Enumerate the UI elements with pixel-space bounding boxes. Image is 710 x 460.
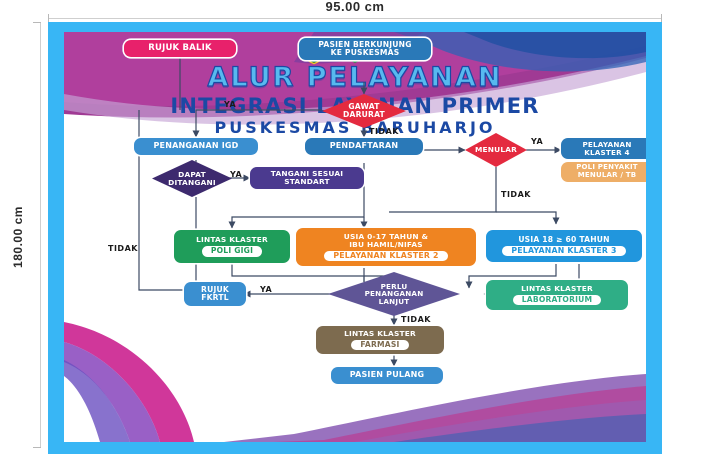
- edge-label-tidak-dapat: TIDAK: [108, 244, 138, 253]
- node-dapat-ditangani-line2: DITANGANI: [168, 179, 216, 187]
- node-tangani-sesuai-standart-line2: STANDART: [284, 178, 330, 186]
- node-lintas-klaster-laboratorium[interactable]: LINTAS KLASTER LABORATORIUM: [486, 280, 628, 310]
- node-perlu-penanganan-lanjut-line3: LANJUT: [379, 298, 410, 306]
- node-pasien-pulang[interactable]: PASIEN PULANG: [331, 367, 443, 384]
- edge-label-ya-menular: YA: [531, 137, 543, 146]
- node-klaster-2-sub: PELAYANAN KLASTER 2: [324, 251, 447, 261]
- node-rujuk-fkrtl-line2: FKRTL: [201, 294, 229, 302]
- node-menular[interactable]: MENULAR: [465, 133, 527, 167]
- width-ruler-tick-right: [661, 14, 662, 22]
- edge-label-ya-gawat: YA: [224, 100, 236, 109]
- edge-label-tidak-gawat: TIDAK: [369, 127, 399, 136]
- node-penanganan-igd-label: PENANGANAN IGD: [153, 142, 238, 151]
- node-rujuk-fkrtl[interactable]: RUJUK FKRTL: [184, 282, 246, 306]
- poster-canvas: 95.00 cm 180.00 cm: [0, 0, 710, 460]
- node-lintas-klaster-farmasi-sub: FARMASI: [351, 340, 408, 350]
- width-ruler-bar: [48, 18, 662, 19]
- node-poli-penyakit-menular-line2: MENULAR / TB: [578, 172, 637, 180]
- height-dimension-label: 180.00 cm: [11, 197, 25, 277]
- node-poli-penyakit-menular[interactable]: POLI PENYAKIT MENULAR / TB: [561, 162, 646, 182]
- height-ruler-bar: [40, 22, 41, 448]
- node-pelayanan-klaster-4[interactable]: PELAYANAN KLASTER 4: [561, 138, 646, 159]
- node-klaster-3-sub: PELAYANAN KLASTER 3: [502, 246, 625, 256]
- node-lintas-klaster-laboratorium-sub: LABORATORIUM: [513, 295, 602, 305]
- node-pasien-berkunjung-line2: KE PUSKESMAS: [331, 49, 400, 57]
- edge-label-tidak-menular: TIDAK: [501, 190, 531, 199]
- width-ruler-tick-left: [48, 14, 49, 22]
- poster-content: PUSKESMAS BARUHARJO ALUR PELAYANAN INTEG…: [64, 32, 646, 442]
- edge-label-ya-dapat: YA: [230, 170, 242, 179]
- edge-label-ya-perlu: YA: [260, 285, 272, 294]
- height-ruler-tick-bottom: [33, 447, 41, 448]
- node-rujuk-balik-label: RUJUK BALIK: [148, 44, 211, 53]
- node-lintas-klaster-poli-gigi[interactable]: LINTAS KLASTER POLI GIGI: [174, 230, 290, 263]
- node-pendaftaran-label: PENDAFTARAN: [330, 142, 399, 151]
- node-menular-label: MENULAR: [475, 146, 517, 154]
- node-gawat-darurat-line2: DARURAT: [343, 111, 385, 119]
- node-klaster-3[interactable]: USIA 18 ≥ 60 TAHUN PELAYANAN KLASTER 3: [486, 230, 642, 262]
- node-pasien-pulang-label: PASIEN PULANG: [350, 371, 425, 380]
- width-dimension-ruler: 95.00 cm: [48, 0, 662, 22]
- node-lintas-klaster-farmasi-title: LINTAS KLASTER: [344, 330, 416, 338]
- node-rujuk-balik[interactable]: RUJUK BALIK: [124, 40, 236, 57]
- node-dapat-ditangani[interactable]: DAPAT DITANGANI: [152, 160, 232, 197]
- node-lintas-klaster-poli-gigi-title: LINTAS KLASTER: [196, 236, 268, 244]
- node-perlu-penanganan-lanjut[interactable]: PERLU PENANGANAN LANJUT: [328, 272, 460, 316]
- node-klaster-2[interactable]: USIA 0-17 TAHUN & IBU HAMIL/NIFAS PELAYA…: [296, 228, 476, 266]
- width-dimension-label: 95.00 cm: [48, 0, 662, 14]
- node-gawat-darurat[interactable]: GAWAT DARURAT: [322, 94, 406, 128]
- edge-label-tidak-perlu: TIDAK: [401, 315, 431, 324]
- height-ruler-tick-top: [33, 22, 41, 23]
- node-lintas-klaster-laboratorium-title: LINTAS KLASTER: [521, 285, 593, 293]
- node-klaster-2-line2: IBU HAMIL/NIFAS: [349, 241, 423, 249]
- height-dimension-ruler: 180.00 cm: [0, 22, 46, 454]
- node-penanganan-igd[interactable]: PENANGANAN IGD: [134, 138, 258, 155]
- node-pasien-berkunjung[interactable]: PASIEN BERKUNJUNG KE PUSKESMAS: [299, 38, 431, 60]
- node-pendaftaran[interactable]: PENDAFTARAN: [305, 138, 423, 155]
- flowchart: RUJUK BALIK PASIEN BERKUNJUNG KE PUSKESM…: [64, 32, 646, 442]
- node-tangani-sesuai-standart[interactable]: TANGANI SESUAI STANDART: [250, 167, 364, 189]
- node-lintas-klaster-poli-gigi-sub: POLI GIGI: [202, 246, 262, 256]
- node-klaster-3-line1: USIA 18 ≥ 60 TAHUN: [518, 236, 609, 244]
- node-pelayanan-klaster-4-line2: KLASTER 4: [584, 149, 630, 157]
- node-lintas-klaster-farmasi[interactable]: LINTAS KLASTER FARMASI: [316, 326, 444, 354]
- poster-frame: PUSKESMAS BARUHARJO ALUR PELAYANAN INTEG…: [48, 22, 662, 454]
